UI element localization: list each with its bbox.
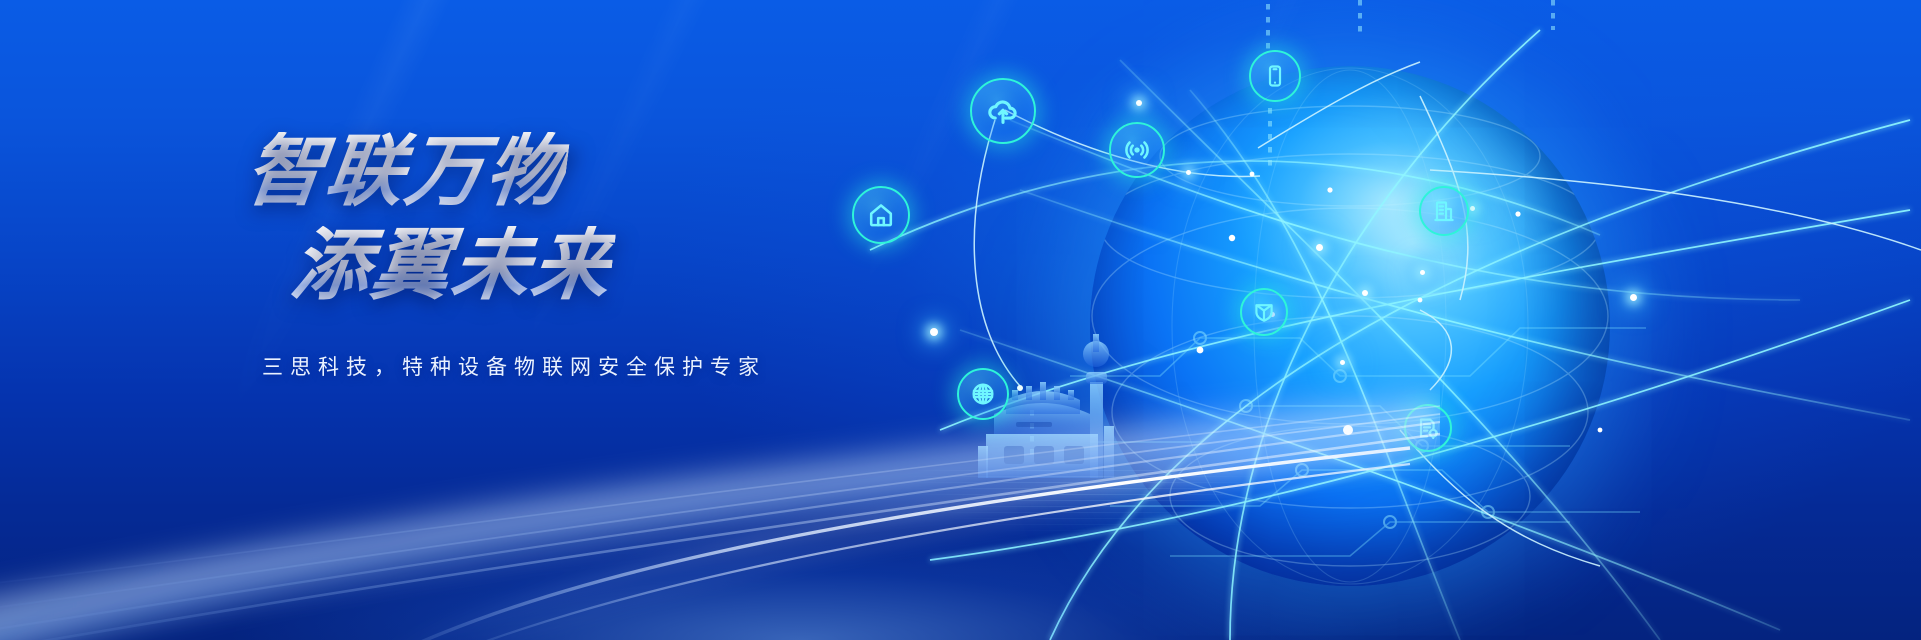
glow-node bbox=[1630, 294, 1637, 301]
dotted-guide bbox=[1551, 0, 1555, 30]
node-mobile[interactable] bbox=[1249, 50, 1301, 102]
node-signal[interactable] bbox=[1109, 122, 1165, 178]
node-shield[interactable] bbox=[1240, 288, 1288, 336]
network-globe bbox=[1090, 66, 1610, 586]
cloud-upload-icon bbox=[986, 94, 1020, 128]
hero-copy: 智联万物 添翼未来 三思科技，特种设备物联网安全保护专家 bbox=[246, 132, 1006, 381]
node-building[interactable] bbox=[1419, 186, 1469, 236]
dotted-guide bbox=[1266, 4, 1270, 52]
dotted-guide bbox=[1358, 0, 1362, 34]
subtitle: 三思科技，特种设备物联网安全保护专家 bbox=[262, 351, 1006, 381]
headline-line-2: 添翼未来 bbox=[287, 226, 617, 306]
shield-icon bbox=[1252, 300, 1276, 324]
headline: 智联万物 添翼未来 bbox=[246, 132, 1006, 305]
document-settings-icon bbox=[1416, 416, 1440, 440]
wireless-signal-icon bbox=[1123, 136, 1151, 164]
building-icon bbox=[1432, 199, 1456, 223]
hero-banner: 智联万物 添翼未来 三思科技，特种设备物联网安全保护专家 bbox=[0, 0, 1921, 640]
headline-line-1: 智联万物 bbox=[241, 132, 571, 212]
dotted-guide bbox=[1030, 410, 1034, 456]
globe-network-icon bbox=[970, 381, 996, 407]
node-document-settings[interactable] bbox=[1404, 404, 1452, 452]
mobile-phone-icon bbox=[1263, 64, 1287, 88]
globe-latitude-lines bbox=[1090, 66, 1610, 586]
